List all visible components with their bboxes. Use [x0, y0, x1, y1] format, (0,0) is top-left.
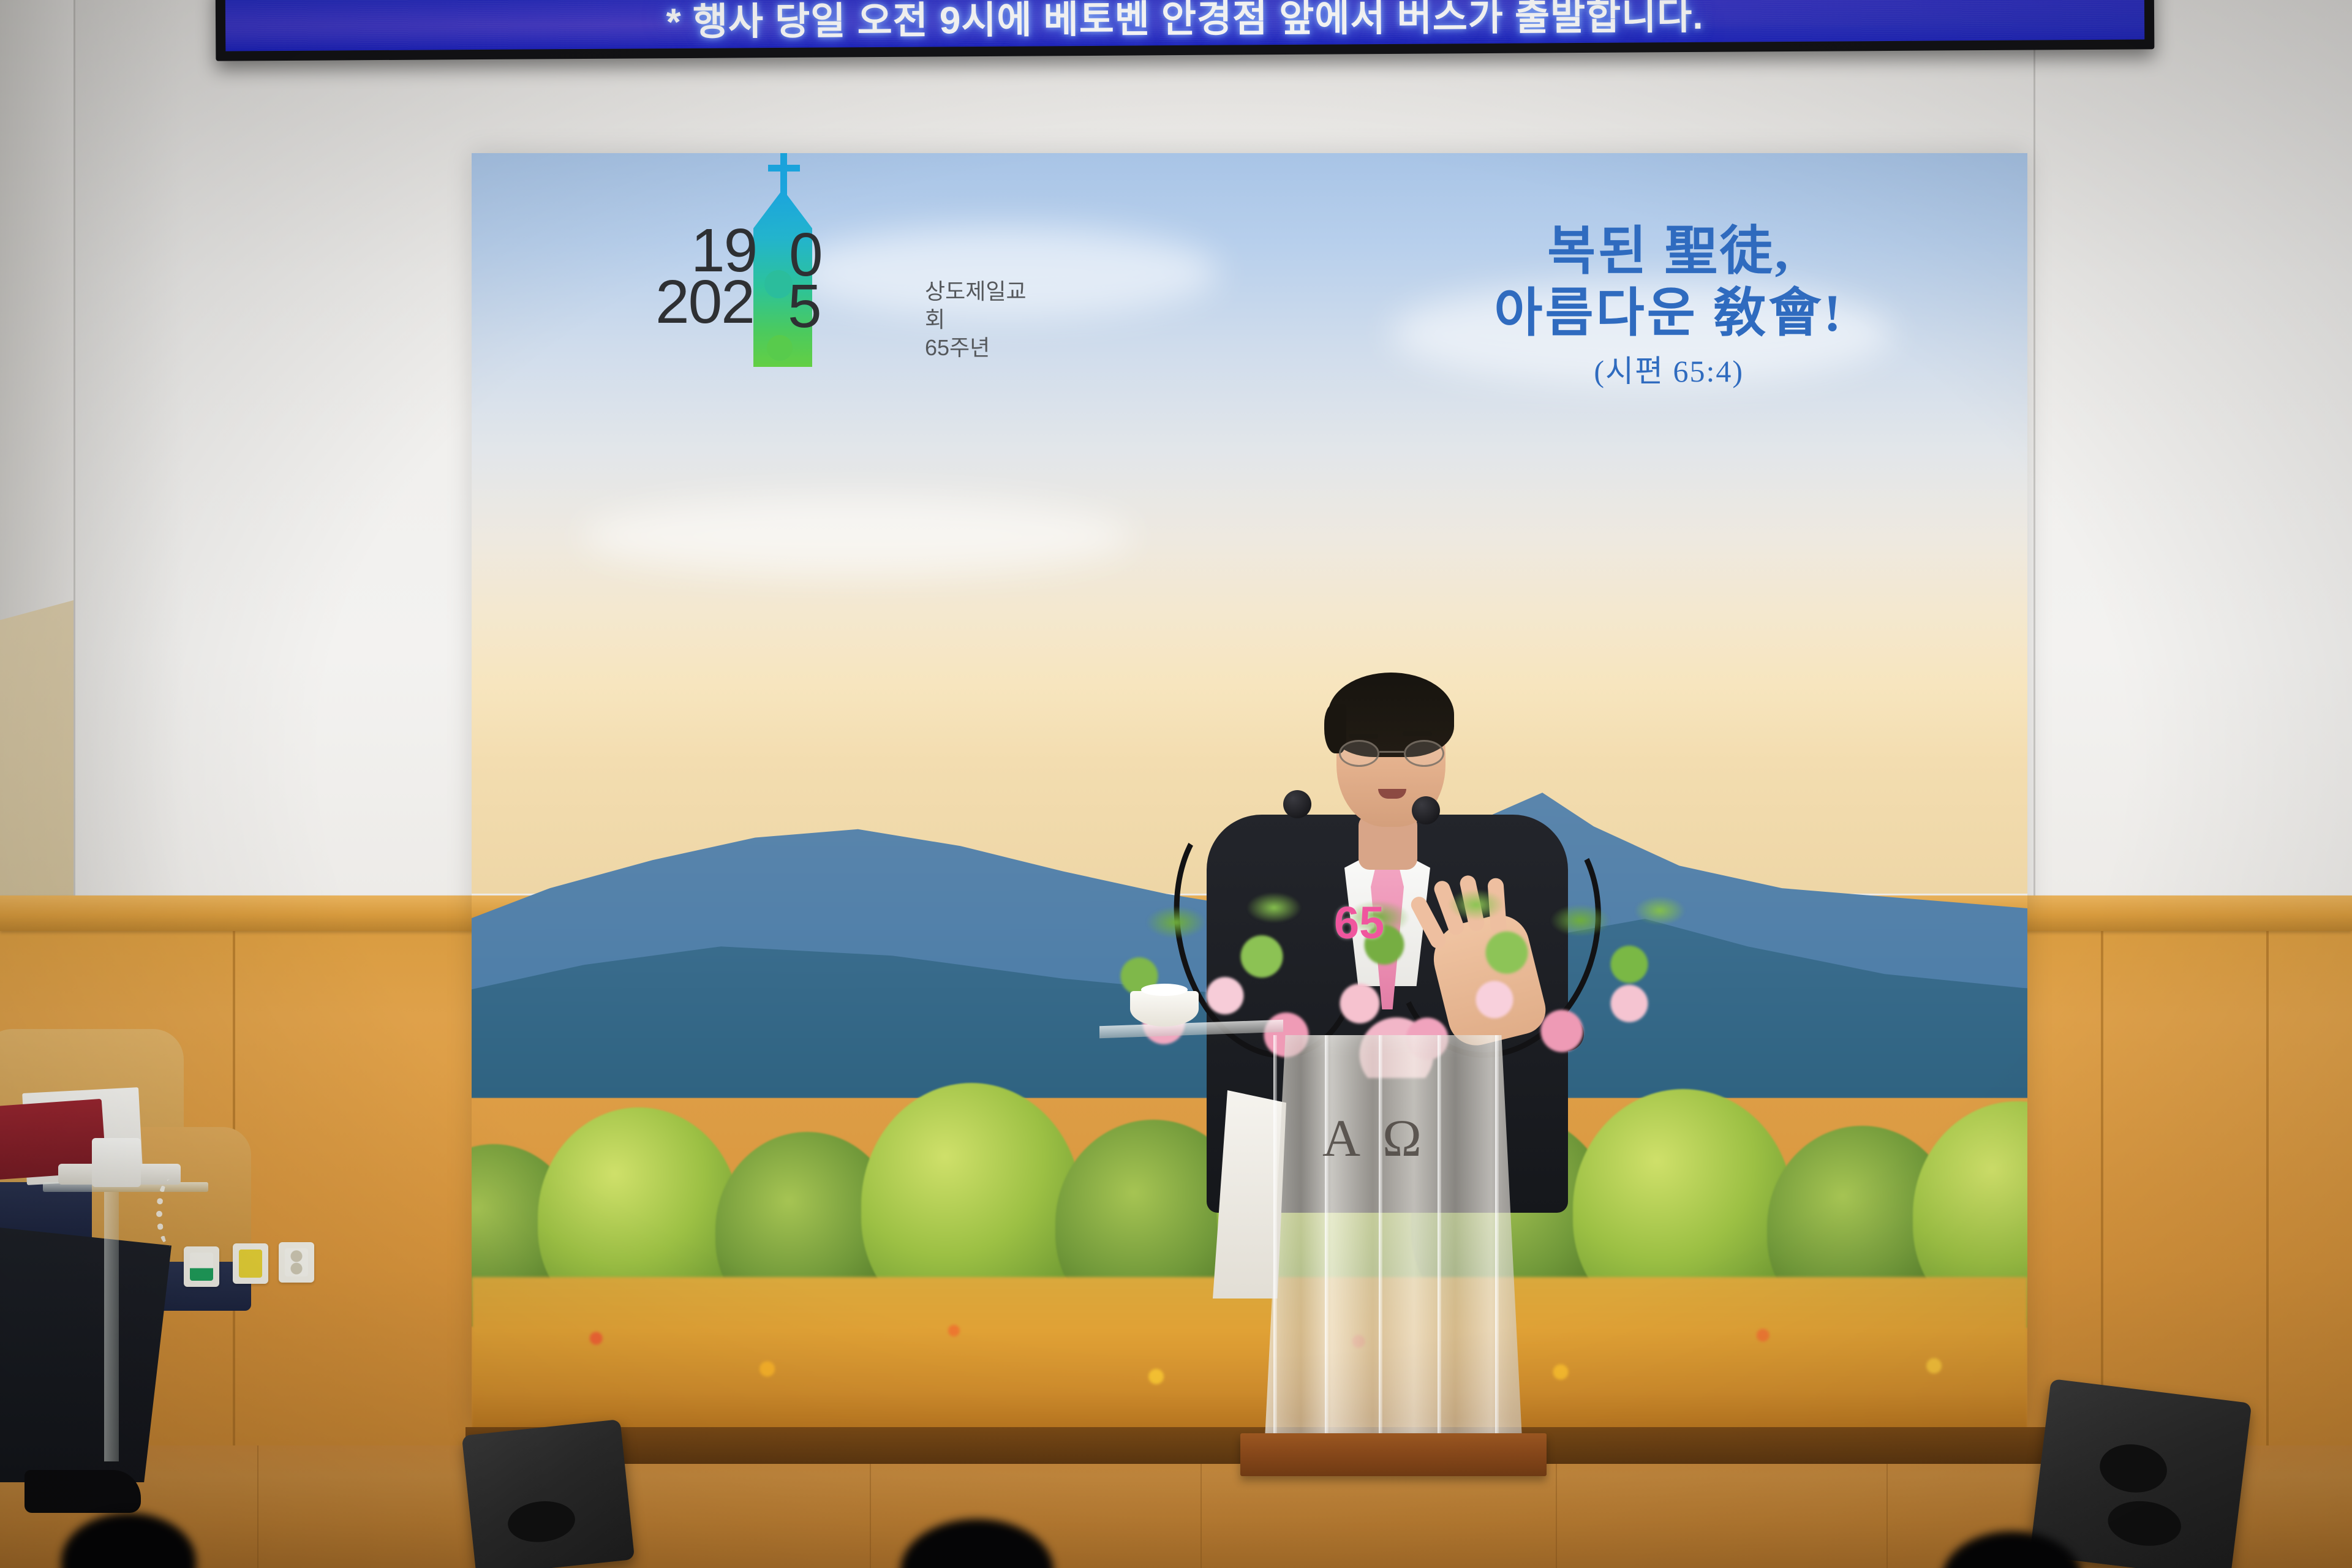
verse-reference: (시편 65:4) — [1494, 353, 1844, 390]
podium-edge — [1438, 1035, 1441, 1439]
glasses-bridge — [1379, 751, 1404, 753]
led-announcement-text: * 행사 당일 오전 9시에 베토벤 안경점 앞에서 버스가 출발합니다. — [225, 0, 2144, 49]
glasses-lens-left — [1339, 740, 1379, 767]
cross-icon-bar — [768, 165, 800, 171]
alpha-symbol: Α — [1322, 1107, 1360, 1169]
anniversary-number-badge: 65 — [1334, 897, 1384, 949]
outlet-face — [285, 1248, 308, 1276]
outlet-face — [239, 1249, 262, 1278]
logo-anniversary-text: 65주년 — [925, 334, 1035, 362]
verse-line-1: 복된 聖徒, — [1494, 221, 1844, 282]
left-beige-panel — [0, 600, 73, 931]
backdrop-verse-block: 복된 聖徒, 아름다운 敎會! (시편 65:4) — [1494, 221, 1844, 390]
floor-plank — [1887, 1445, 1888, 1568]
acrylic-podium: Α Ω — [1222, 1035, 1565, 1482]
monitor-woofer-port — [506, 1498, 577, 1545]
speaker-eyebrow — [1349, 734, 1378, 739]
anniversary-logo: 19 202 0 5 상도제일교회 65주년 — [655, 224, 1035, 364]
floor-plank — [1200, 1445, 1202, 1568]
floor-plank — [870, 1445, 871, 1568]
podium-edge — [1495, 1035, 1499, 1439]
monitor-woofer-port — [2105, 1497, 2184, 1550]
omega-symbol: Ω — [1382, 1107, 1422, 1169]
floor-monitor-speaker-right — [2030, 1379, 2252, 1568]
podium-edge — [1325, 1035, 1329, 1439]
wainscot-groove — [2266, 931, 2269, 1507]
logo-church-name: 상도제일교회 65주년 — [925, 277, 1035, 362]
backdrop-cloud — [582, 496, 1133, 576]
glasses-lens-right — [1404, 740, 1444, 767]
podium-wooden-base — [1240, 1433, 1547, 1476]
wall-power-socket[interactable] — [279, 1242, 314, 1283]
wall-seam — [2034, 0, 2035, 931]
floor-monitor-speaker-left — [462, 1419, 635, 1568]
logo-church-name-text: 상도제일교회 — [925, 279, 1027, 332]
glasses-icon — [1339, 740, 1444, 767]
seated-person-legs — [0, 1225, 171, 1482]
telephone-cord — [156, 1179, 184, 1246]
logo-year-bottom-prefix: 202 — [655, 271, 754, 333]
microphone-head-right — [1412, 796, 1440, 824]
logo-digit-five: 5 — [788, 271, 822, 342]
glass-side-table-leg — [104, 1192, 119, 1461]
microphone-head-left — [1283, 790, 1311, 818]
led-screen-surface: * 행사 당일 오전 9시에 베토벤 안경점 앞에서 버스가 출발합니다. — [225, 0, 2145, 51]
podium-body — [1265, 1035, 1522, 1439]
wall-seam — [73, 0, 75, 931]
monitor-tweeter-port — [2097, 1441, 2170, 1496]
podium-edge — [1273, 1035, 1277, 1439]
wall-outlet-indicator[interactable] — [233, 1243, 268, 1284]
podium-water-cup — [1130, 991, 1199, 1027]
wall-outlet-switch[interactable] — [184, 1246, 219, 1287]
sanctuary-stage-scene: * 행사 당일 오전 9시에 베토벤 안경점 앞에서 버스가 출발합니다. — [0, 0, 2352, 1568]
cross-icon — [780, 153, 787, 195]
white-cup — [92, 1138, 141, 1187]
podium-edge — [1379, 1035, 1382, 1439]
speaker-eyebrow — [1403, 731, 1432, 736]
floor-plank — [257, 1445, 258, 1568]
outlet-face — [190, 1253, 213, 1281]
verse-line-2: 아름다운 敎會! — [1494, 282, 1844, 344]
seated-person-shoe — [24, 1470, 141, 1513]
